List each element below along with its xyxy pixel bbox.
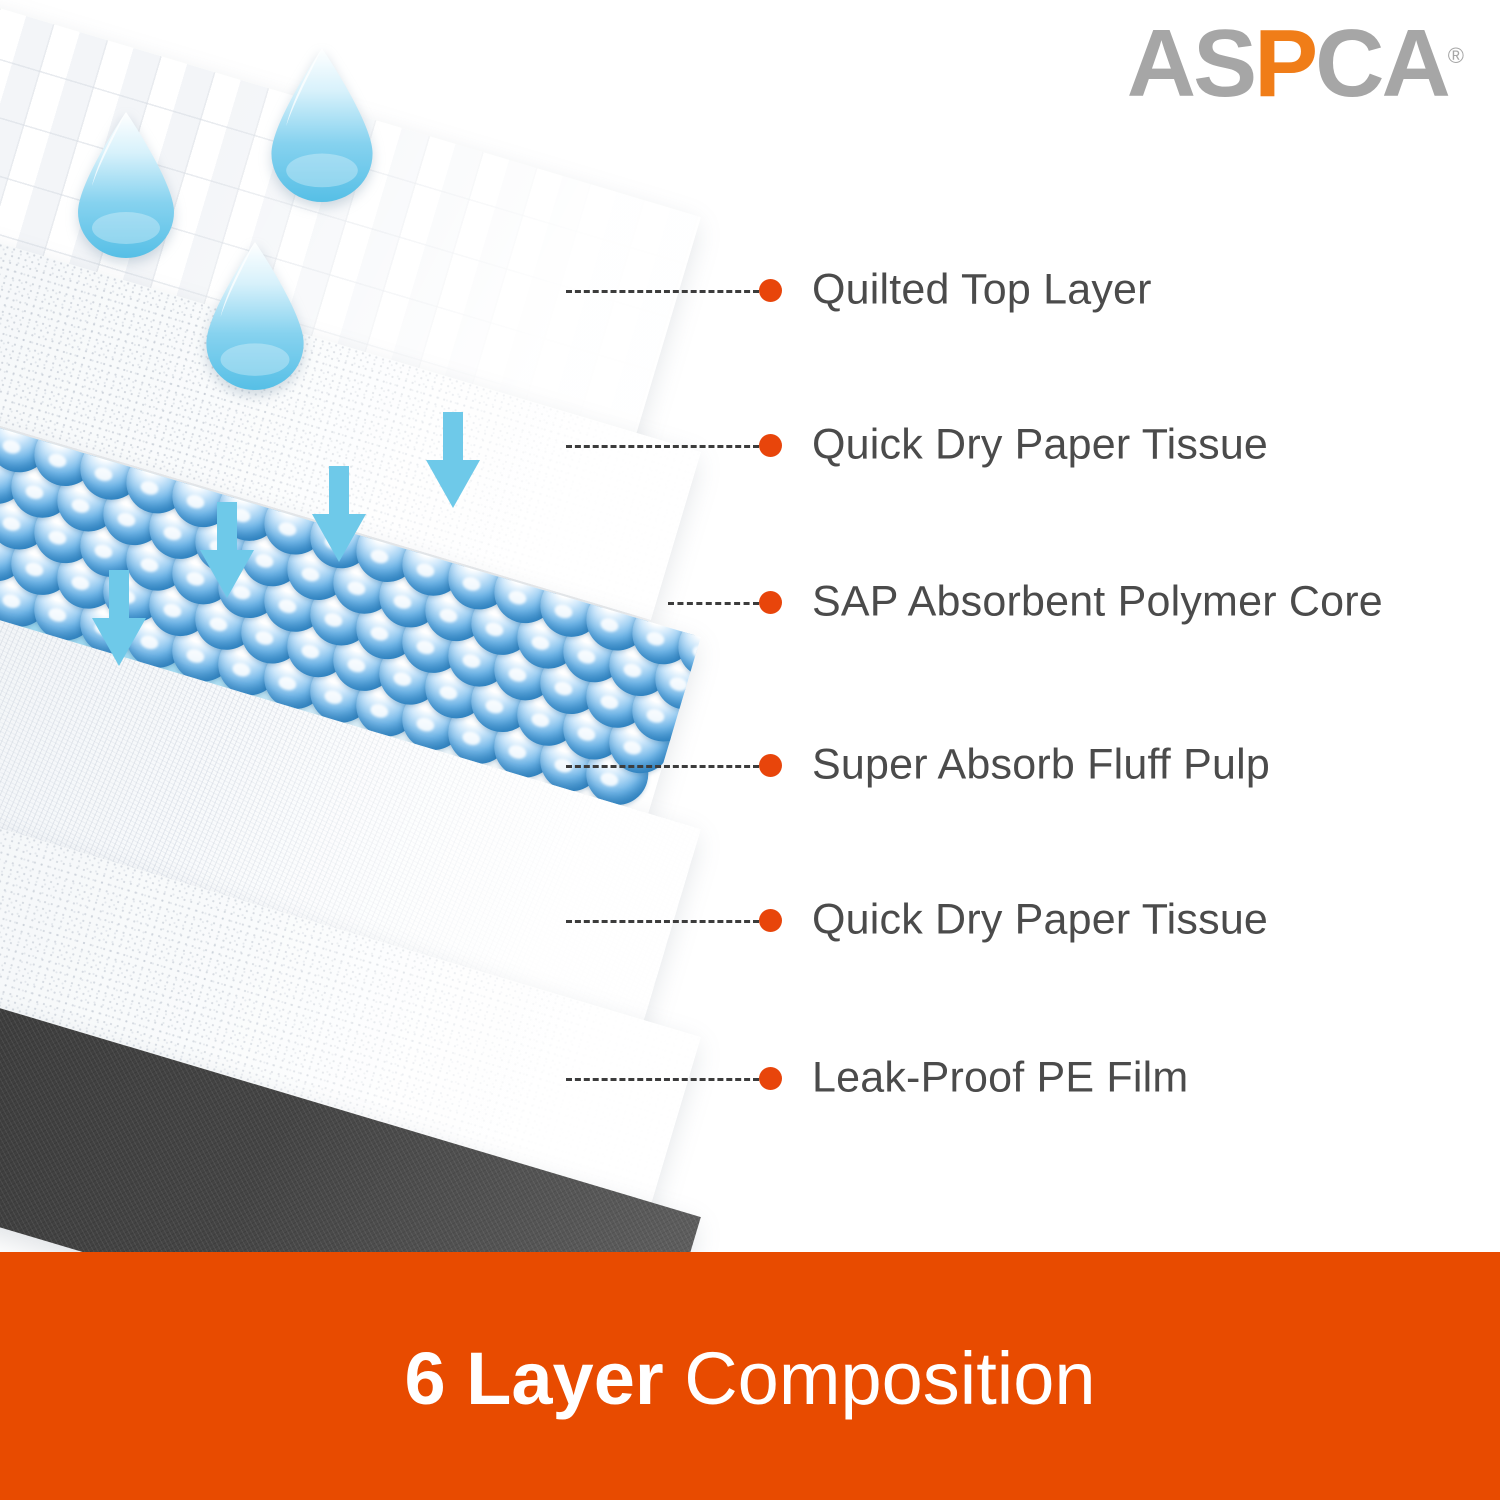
layer-label: Leak-Proof PE Film bbox=[812, 1054, 1188, 1103]
logo-text-ca: CA bbox=[1315, 10, 1448, 117]
callout-leader-line bbox=[668, 602, 759, 605]
banner-headline-regular-text: Composition bbox=[684, 1337, 1095, 1420]
callout-leader-line bbox=[566, 445, 759, 448]
callout-dot bbox=[759, 754, 782, 777]
absorption-arrow-icon bbox=[196, 502, 258, 598]
layer-label: Quick Dry Paper Tissue bbox=[812, 896, 1268, 945]
water-droplet-icon bbox=[70, 108, 182, 258]
callout-dot bbox=[759, 1067, 782, 1090]
absorption-arrow-icon bbox=[308, 466, 370, 562]
registered-trademark-icon: ® bbox=[1448, 43, 1464, 68]
callout-dot bbox=[759, 909, 782, 932]
callout-dot bbox=[759, 434, 782, 457]
banner-headline-bold: 6 Layer bbox=[404, 1337, 663, 1420]
callout-leader-line bbox=[566, 290, 759, 293]
water-droplet-icon bbox=[262, 44, 382, 202]
layer-label: Quick Dry Paper Tissue bbox=[812, 421, 1268, 470]
aspca-logo: ASPCA® bbox=[1127, 16, 1464, 112]
banner-headline-regular bbox=[664, 1337, 685, 1420]
layer-label: Quilted Top Layer bbox=[812, 266, 1152, 315]
logo-text-p: P bbox=[1254, 10, 1315, 117]
callout-leader-line bbox=[566, 765, 759, 768]
layer-label: Super Absorb Fluff Pulp bbox=[812, 741, 1270, 790]
layer-stack-illustration bbox=[0, 0, 1500, 1290]
banner-headline: 6 Layer Composition bbox=[404, 1342, 1095, 1416]
infographic-canvas: Quilted Top LayerQuick Dry Paper TissueS… bbox=[0, 0, 1500, 1500]
layer-label: SAP Absorbent Polymer Core bbox=[812, 578, 1383, 627]
logo-text-as: AS bbox=[1127, 10, 1254, 117]
water-droplet-icon bbox=[198, 238, 312, 390]
absorption-arrow-icon bbox=[88, 570, 150, 666]
bottom-banner: 6 Layer Composition bbox=[0, 1252, 1500, 1500]
callout-leader-line bbox=[566, 920, 759, 923]
absorption-arrow-icon bbox=[422, 412, 484, 508]
callout-dot bbox=[759, 591, 782, 614]
callout-dot bbox=[759, 279, 782, 302]
callout-leader-line bbox=[566, 1078, 759, 1081]
